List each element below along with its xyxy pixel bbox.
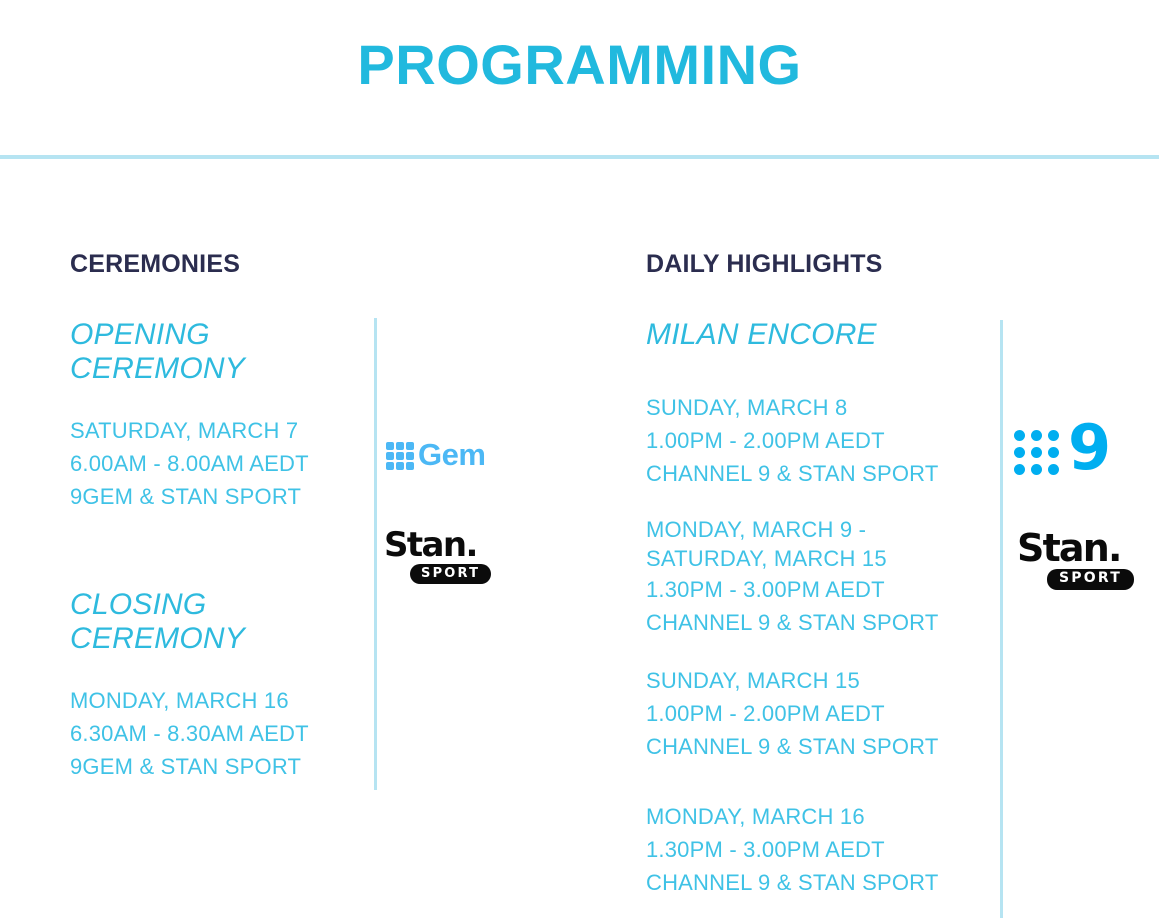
nine-dot-grid-icon [386,442,414,470]
stan-sport-logo-right: Stan. SPORT [1017,529,1134,590]
milan-encore-title-block: MILAN ENCORE [646,318,991,352]
event-details: MONDAY, MARCH 16 6.30AM - 8.30AM AEDT 9G… [70,684,370,783]
highlight-block-4: MONDAY, MARCH 16 1.30PM - 3.00PM AEDT CH… [646,800,991,899]
stan-sport-logo-wrap: Stan. SPORT [1017,529,1134,590]
stan-sport-logo-left: Stan. SPORT [384,528,491,584]
stan-wordmark: Stan. [1017,529,1121,567]
daily-highlights-column-divider [1000,320,1003,918]
event-details: SUNDAY, MARCH 8 1.00PM - 2.00PM AEDT CHA… [646,391,991,490]
channel-9-logo-wrap: 9 [1014,426,1111,478]
page-title: PROGRAMMING [0,32,1159,98]
9gem-logo-wrap: Gem [386,440,485,471]
channel-9-logo: 9 [1014,426,1111,478]
event-detail-line: SATURDAY, MARCH 7 [70,414,370,447]
channel-9-numeral: 9 [1068,422,1111,474]
stan-sport-badge: SPORT [410,564,491,584]
stan-sport-badge: SPORT [1047,569,1134,590]
event-detail-line: 1.00PM - 2.00PM AEDT [646,424,991,457]
event-detail-line: 1.00PM - 2.00PM AEDT [646,697,991,730]
event-detail-line: MONDAY, MARCH 16 [646,800,991,833]
event-detail-line: SATURDAY, MARCH 15 [646,544,991,573]
event-detail-line: MONDAY, MARCH 9 - [646,515,991,544]
highlight-block-3: SUNDAY, MARCH 15 1.00PM - 2.00PM AEDT CH… [646,664,991,763]
programming-page: PROGRAMMING CEREMONIES DAILY HIGHLIGHTS … [0,0,1159,918]
event-detail-line: CHANNEL 9 & STAN SPORT [646,730,991,763]
ceremonies-column-divider [374,318,377,790]
event-detail-line: CHANNEL 9 & STAN SPORT [646,606,991,639]
event-title: OPENING CEREMONY [70,318,370,386]
stan-sport-logo-wrap: Stan. SPORT [384,528,491,584]
event-opening-ceremony: OPENING CEREMONY SATURDAY, MARCH 7 6.00A… [70,318,370,513]
nine-dot-grid-icon [1014,430,1059,475]
event-details: MONDAY, MARCH 9 - SATURDAY, MARCH 15 [646,515,991,573]
event-detail-line: 6.30AM - 8.30AM AEDT [70,717,370,750]
highlight-block-2: MONDAY, MARCH 9 - SATURDAY, MARCH 15 1.3… [646,515,991,639]
event-detail-line: CHANNEL 9 & STAN SPORT [646,866,991,899]
section-heading-daily-highlights: DAILY HIGHLIGHTS [646,249,883,279]
event-title: CLOSING CEREMONY [70,588,370,656]
event-closing-ceremony: CLOSING CEREMONY MONDAY, MARCH 16 6.30AM… [70,588,370,783]
9gem-logo: Gem [386,440,485,471]
event-details: MONDAY, MARCH 16 1.30PM - 3.00PM AEDT CH… [646,800,991,899]
section-heading-ceremonies: CEREMONIES [70,249,240,279]
highlight-block-1: SUNDAY, MARCH 8 1.00PM - 2.00PM AEDT CHA… [646,391,991,490]
event-detail-line: 1.30PM - 3.00PM AEDT [646,573,991,606]
event-detail-line: CHANNEL 9 & STAN SPORT [646,457,991,490]
event-detail-line: SUNDAY, MARCH 8 [646,391,991,424]
9gem-logo-wordmark: Gem [418,439,485,470]
event-details: 1.30PM - 3.00PM AEDT CHANNEL 9 & STAN SP… [646,573,991,639]
event-detail-line: 6.00AM - 8.00AM AEDT [70,447,370,480]
event-details: SATURDAY, MARCH 7 6.00AM - 8.00AM AEDT 9… [70,414,370,513]
stan-wordmark: Stan. [384,528,477,562]
event-detail-line: MONDAY, MARCH 16 [70,684,370,717]
event-details: SUNDAY, MARCH 15 1.00PM - 2.00PM AEDT CH… [646,664,991,763]
event-detail-line: 1.30PM - 3.00PM AEDT [646,833,991,866]
event-detail-line: 9GEM & STAN SPORT [70,750,370,783]
event-detail-line: SUNDAY, MARCH 15 [646,664,991,697]
header-divider [0,155,1159,159]
event-title: MILAN ENCORE [646,318,991,352]
event-detail-line: 9GEM & STAN SPORT [70,480,370,513]
